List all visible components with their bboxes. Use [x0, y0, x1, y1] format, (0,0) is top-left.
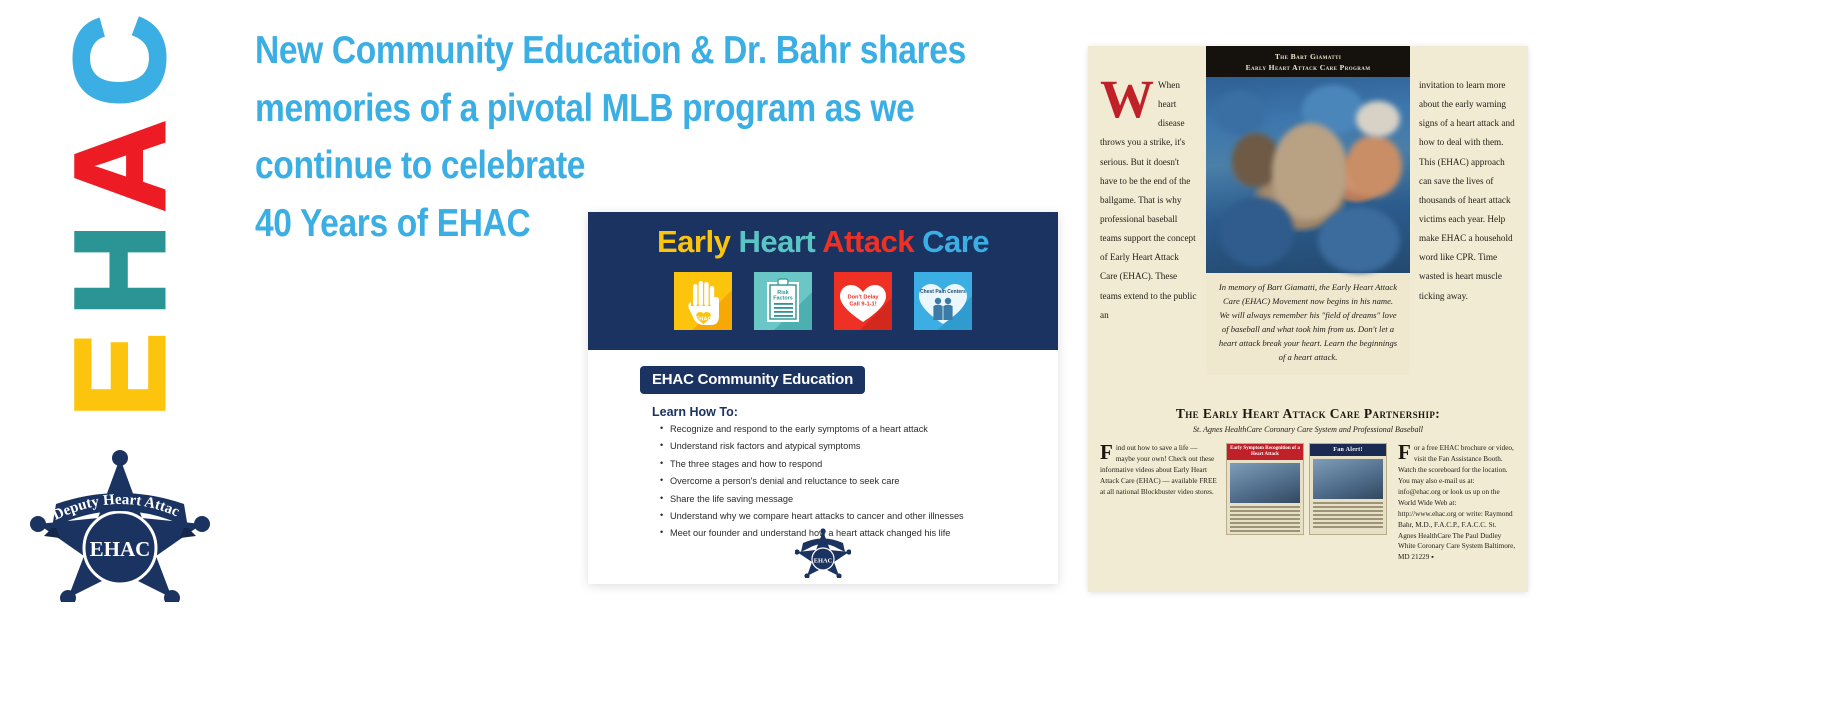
list-item: The three stages and how to respond: [660, 460, 1058, 469]
photo-header-line-2: Early Heart Attack Care Program: [1210, 62, 1406, 73]
bottom-right-text: or a free EHAC brochure or video, visit …: [1398, 444, 1515, 561]
photo-header-line-1: The Bart Giamatti: [1210, 51, 1406, 62]
brochure-photo-block: The Bart Giamatti Early Heart Attack Car…: [1206, 46, 1410, 398]
brochure-mini-cards: Early Symptom Recognition of a Heart Att…: [1226, 443, 1390, 563]
chest-pain-centers-icon: Chest Pain Centers: [914, 272, 972, 330]
list-item: Understand why we compare heart attacks …: [660, 512, 1058, 521]
brochure-bottom-section: F ind out how to save a life — maybe you…: [1088, 443, 1528, 563]
bottom-right-dropcap: F: [1398, 444, 1411, 461]
banner-word-heart: Heart: [738, 224, 815, 259]
badge-center-text: EHAC: [90, 537, 151, 561]
partnership-subtitle: St. Agnes HealthCare Coronary Care Syste…: [1088, 425, 1528, 434]
flyer-banner: Early Heart Attack Care: [588, 212, 1058, 350]
headline-line-1: New Community Education & Dr. Bahr share…: [255, 22, 943, 80]
mini-card-2-lines: [1313, 502, 1383, 528]
bottom-left-dropcap: F: [1100, 444, 1113, 461]
community-education-pill: EHAC Community Education: [640, 366, 865, 394]
mini-card-2-image: [1313, 459, 1383, 499]
mini-card-2-header: Fan Alert!: [1310, 444, 1386, 456]
brochure-right-column: invitation to learn more about the early…: [1410, 46, 1528, 398]
banner-word-care: Care: [922, 224, 989, 259]
brochure-left-column: W When heart disease throws you a strike…: [1088, 46, 1206, 398]
flyer-body: EHAC Community Education Learn How To: R…: [588, 350, 1058, 584]
banner-word-early: Early: [657, 224, 730, 259]
partnership-title: The Early Heart Attack Care Partnership:: [1088, 406, 1528, 422]
vintage-brochure-scan: W When heart disease throws you a strike…: [1088, 46, 1528, 592]
banner-word-attack: Attack: [822, 224, 914, 259]
list-item: Overcome a person's denial and reluctanc…: [660, 477, 1058, 486]
list-item: Share the life saving message: [660, 495, 1058, 504]
deputy-heart-attack-badge: EHAC Deputy Heart Attack: [30, 432, 210, 602]
baseball-crowd-photo: [1206, 77, 1410, 273]
hand-ehac-icon: EHAC: [674, 272, 732, 330]
list-item: Recognize and respond to the early sympt…: [660, 425, 1058, 434]
ehac-logo-column: C A H E EHAC: [0, 0, 258, 728]
mini-card-1-lines: [1230, 506, 1300, 532]
svg-text:Chest Pain Centers: Chest Pain Centers: [920, 289, 966, 295]
banner-title: Early Heart Attack Care: [588, 224, 1058, 260]
svg-text:Call 9-1-1!: Call 9-1-1!: [849, 302, 876, 308]
learn-how-bullet-list: Recognize and respond to the early sympt…: [660, 425, 1058, 539]
headline-line-2: memories of a pivotal MLB program as we: [255, 80, 943, 138]
photo-header: The Bart Giamatti Early Heart Attack Car…: [1206, 46, 1410, 77]
brochure-bottom-right: F or a free EHAC brochure or video, visi…: [1398, 443, 1516, 563]
svg-text:Don't Delay: Don't Delay: [847, 295, 879, 301]
brochure-right-text: invitation to learn more about the early…: [1419, 76, 1516, 306]
headline-line-3: continue to celebrate: [255, 137, 943, 195]
brochure-top-section: W When heart disease throws you a strike…: [1088, 46, 1528, 398]
mini-card-1-image: [1230, 463, 1300, 503]
learn-how-to-label: Learn How To:: [652, 405, 1058, 419]
brochure-left-dropcap: W: [1100, 78, 1154, 120]
svg-text:Factors: Factors: [773, 296, 792, 302]
ehac-vertical-wordmark: C A H E: [26, 14, 216, 424]
photo-caption: In memory of Bart Giamatti, the Early He…: [1206, 273, 1410, 375]
brochure-bottom-left: F ind out how to save a life — maybe you…: [1100, 443, 1218, 563]
bottom-left-text: ind out how to save a life — maybe your …: [1100, 444, 1217, 496]
svg-text:EHAC: EHAC: [814, 557, 833, 564]
risk-factors-clipboard-icon: Risk Factors: [754, 272, 812, 330]
mini-card-1-header: Early Symptom Recognition of a Heart Att…: [1227, 444, 1303, 460]
list-item: Understand risk factors and atypical sym…: [660, 442, 1058, 451]
mini-card-fan-alert: Fan Alert!: [1309, 443, 1387, 535]
mini-card-video: Early Symptom Recognition of a Heart Att…: [1226, 443, 1304, 535]
ehac-flyer-card: Early Heart Attack Care: [588, 212, 1058, 584]
svg-text:EHAC: EHAC: [696, 317, 712, 323]
dont-delay-heart-icon: Don't Delay Call 9-1-1!: [834, 272, 892, 330]
flyer-icon-row: EHAC Risk Factors: [588, 272, 1058, 330]
page-root: C A H E EHAC: [0, 0, 1825, 728]
flyer-deputy-badge-icon: EHAC: [795, 526, 851, 578]
list-item: Meet our founder and understand how a he…: [660, 529, 1058, 538]
